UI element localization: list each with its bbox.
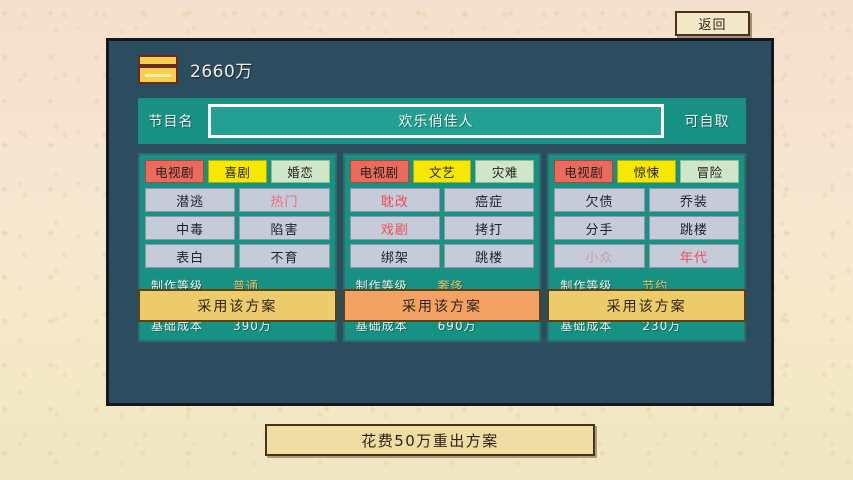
keyword-cell[interactable]: 潜逃: [145, 188, 235, 212]
keyword-cell[interactable]: 癌症: [444, 188, 534, 212]
tag-row: 电视剧文艺灾难: [350, 160, 535, 183]
keyword-cell[interactable]: 热门: [239, 188, 329, 212]
program-name-row: 节目名 欢乐俏佳人 可自取: [138, 98, 746, 144]
keyword-cell[interactable]: 绑架: [350, 244, 440, 268]
keyword-cell[interactable]: 中毒: [145, 216, 235, 240]
keyword-grid: 耽改癌症戏剧拷打绑架跳楼: [350, 188, 535, 268]
keyword-cell[interactable]: 跳楼: [649, 216, 739, 240]
adopt-plan-button[interactable]: 采用该方案: [343, 289, 542, 322]
tag-genre[interactable]: 电视剧: [554, 160, 613, 183]
adopt-plan-button[interactable]: 采用该方案: [138, 289, 337, 322]
tag-extra[interactable]: 冒险: [680, 160, 739, 183]
program-name-input[interactable]: 欢乐俏佳人: [208, 104, 664, 138]
money-amount: 2660万: [190, 57, 253, 82]
keyword-cell[interactable]: 欠债: [554, 188, 644, 212]
keyword-cell[interactable]: 乔装: [649, 188, 739, 212]
reroll-button-label: 花费50万重出方案: [361, 430, 499, 451]
tag-genre[interactable]: 电视剧: [145, 160, 204, 183]
return-button-label: 返回: [698, 14, 726, 33]
tag-row: 电视剧喜剧婚恋: [145, 160, 330, 183]
reroll-button[interactable]: 花费50万重出方案: [265, 424, 595, 456]
tag-genre[interactable]: 电视剧: [350, 160, 409, 183]
tag-sub[interactable]: 文艺: [413, 160, 472, 183]
keyword-cell[interactable]: 小众: [554, 244, 644, 268]
tag-extra[interactable]: 婚恋: [271, 160, 330, 183]
keyword-cell[interactable]: 年代: [649, 244, 739, 268]
tag-extra[interactable]: 灾难: [475, 160, 534, 183]
keyword-cell[interactable]: 分手: [554, 216, 644, 240]
money-display: 2660万: [138, 55, 253, 84]
tag-sub[interactable]: 惊悚: [617, 160, 676, 183]
keyword-cell[interactable]: 跳楼: [444, 244, 534, 268]
keyword-cell[interactable]: 戏剧: [350, 216, 440, 240]
tag-row: 电视剧惊悚冒险: [554, 160, 739, 183]
tag-sub[interactable]: 喜剧: [208, 160, 267, 183]
adopt-plan-button[interactable]: 采用该方案: [547, 289, 746, 322]
main-panel: 2660万 节目名 欢乐俏佳人 可自取 电视剧喜剧婚恋潜逃热门中毒陷害表白不育制…: [106, 38, 774, 406]
adopt-button-row: 采用该方案采用该方案采用该方案: [138, 289, 746, 322]
random-name-button[interactable]: 可自取: [668, 111, 746, 131]
keyword-cell[interactable]: 耽改: [350, 188, 440, 212]
gold-bar-icon: [138, 55, 178, 84]
keyword-grid: 欠债乔装分手跳楼小众年代: [554, 188, 739, 268]
keyword-cell[interactable]: 表白: [145, 244, 235, 268]
program-name-label: 节目名: [138, 111, 204, 131]
keyword-cell[interactable]: 不育: [239, 244, 329, 268]
keyword-grid: 潜逃热门中毒陷害表白不育: [145, 188, 330, 268]
keyword-cell[interactable]: 拷打: [444, 216, 534, 240]
return-button[interactable]: 返回: [675, 11, 750, 36]
keyword-cell[interactable]: 陷害: [239, 216, 329, 240]
program-name-value: 欢乐俏佳人: [399, 111, 474, 131]
